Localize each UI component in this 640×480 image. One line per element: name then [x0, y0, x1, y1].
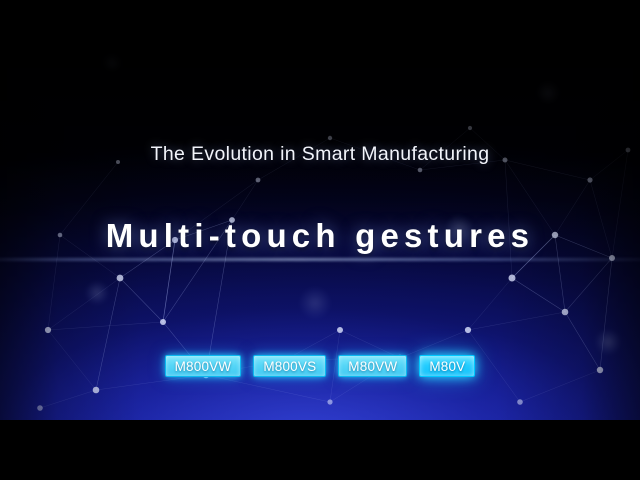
- product-badge-m800vw[interactable]: M800VW: [165, 355, 242, 377]
- product-badge-label: M80VW: [348, 359, 397, 374]
- product-badge-label: M800VW: [175, 359, 232, 374]
- letterbox-bar-bottom: [0, 420, 640, 480]
- video-content-area[interactable]: The Evolution in Smart Manufacturing Mul…: [0, 30, 640, 420]
- product-badge-label: M80V: [429, 359, 465, 374]
- product-badge-m80vw[interactable]: M80VW: [338, 355, 407, 377]
- letterbox-bar-top: [0, 0, 640, 30]
- product-badge-label: M800VS: [263, 359, 316, 374]
- subtitle-text: The Evolution in Smart Manufacturing: [0, 143, 640, 166]
- video-frame-stage: The Evolution in Smart Manufacturing Mul…: [0, 0, 640, 480]
- product-badge-row: M800VW M800VS M80VW M80V: [0, 355, 640, 377]
- product-badge-m800vs[interactable]: M800VS: [253, 355, 326, 377]
- product-badge-m80v[interactable]: M80V: [419, 355, 475, 377]
- horizon-glow-line: [0, 258, 640, 261]
- headline-text: Multi-touch gestures: [0, 217, 640, 255]
